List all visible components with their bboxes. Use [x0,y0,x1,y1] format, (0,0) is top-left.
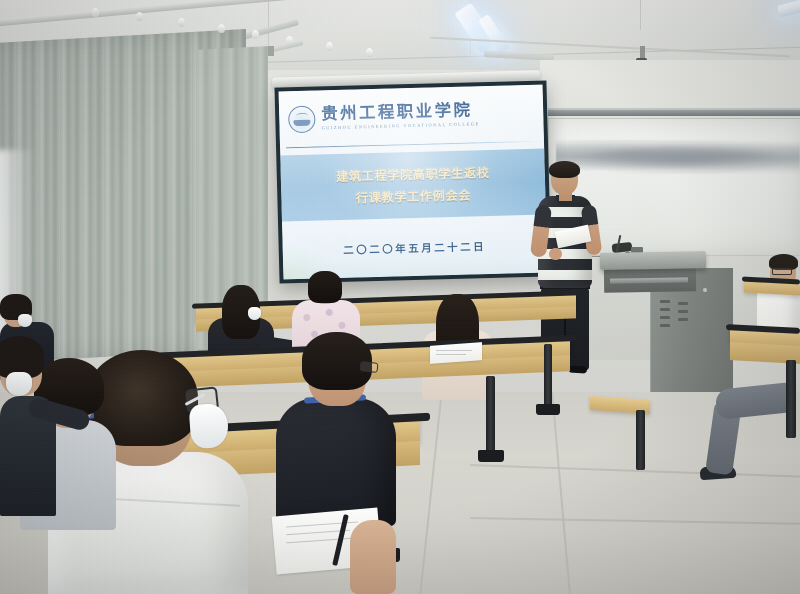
slide-institution-block: 贵州工程职业学院 GUIZHOU ENGINEERING VOCATIONAL … [321,102,480,130]
student-hand [350,520,396,594]
cabinet-lock [703,288,707,292]
whiteboard-top-rail [548,110,800,116]
notebook-rule [436,350,472,351]
slide-institution-cn: 贵州工程职业学院 [321,102,479,123]
curtain-hook-icon [326,42,333,51]
projection-screen: 贵州工程职业学院 GUIZHOU ENGINEERING VOCATIONAL … [274,80,551,283]
notebook-on-desk [430,342,482,364]
speaker-hand [549,248,562,260]
ceiling-panel-seam [268,0,269,46]
slide-header: 贵州工程职业学院 GUIZHOU ENGINEERING VOCATIONAL … [279,85,544,148]
curtain-hook-icon [136,12,143,21]
notebook-rule [436,354,466,355]
curtain-hook-icon [286,36,293,45]
cabinet-vent [660,300,670,303]
student-hair [308,271,342,303]
face-mask-icon [6,372,32,396]
slide-date: 二〇二〇年五月二十二日 [343,238,486,257]
desk-leg [544,344,552,410]
curtain-hook-icon [218,24,225,33]
desk-leg [486,376,495,454]
student-torso [276,398,396,526]
presentation-slide: 贵州工程职业学院 GUIZHOU ENGINEERING VOCATIONAL … [279,85,548,280]
cabinet-vent [678,302,688,305]
whiteboard-erased-marks [556,140,800,174]
slide-title-line-2: 行课教学工作例会会 [356,186,472,207]
cabinet-vent [660,316,670,319]
face-mask-icon [18,314,32,327]
curtain-hook-icon [92,8,99,17]
speaker-shoe [568,365,587,373]
slide-title-line-1: 建筑工程学院高职学生返校 [336,163,490,185]
cabinet-vent [678,310,688,313]
curtain-hook-icon [366,48,373,57]
cabinet-vent [660,324,670,327]
lectern-top [600,251,706,270]
face-mask-icon [248,307,261,320]
eyeglasses-icon [772,268,792,275]
eyeglasses-icon [360,361,379,373]
classroom-photograph: 贵州工程职业学院 GUIZHOU ENGINEERING VOCATIONAL … [0,0,800,594]
ceiling-hanger [268,46,274,56]
desk-foot [478,450,504,462]
desk-foot [536,404,560,415]
cabinet-vent [678,318,688,321]
ceiling-panel-seam [640,0,641,30]
curtain-hook-icon [178,18,185,27]
college-seal-icon [288,105,316,133]
desk-leg [786,360,796,438]
speaker-hair [549,161,580,178]
cabinet-vent [660,308,670,311]
curtain-hook-icon [252,30,259,39]
slide-title-band: 建筑工程学院高职学生返校 行课教学工作例会会 [280,149,546,222]
desk-leg [636,410,645,470]
slide-institution-en: GUIZHOU ENGINEERING VOCATIONAL COLLEGE [322,122,480,131]
